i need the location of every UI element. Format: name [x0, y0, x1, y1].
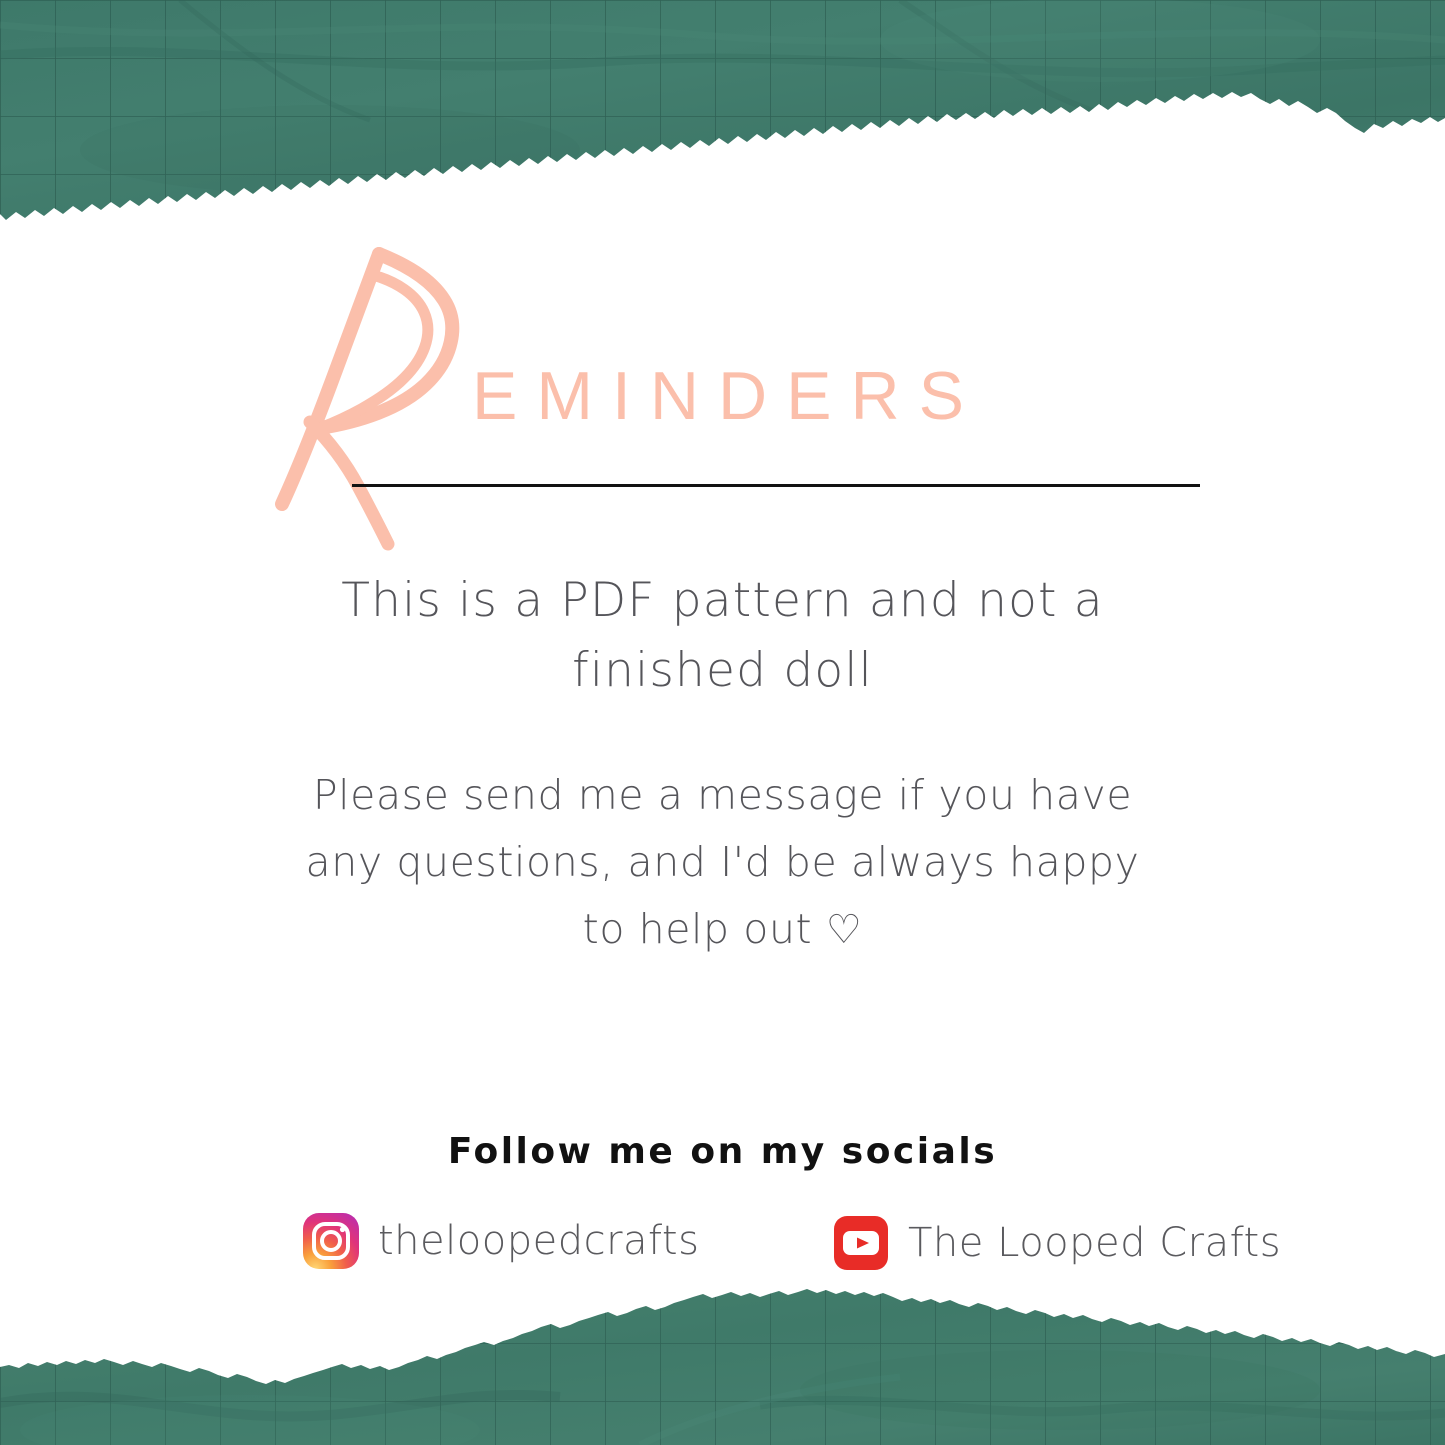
paragraph-line: finished doll	[0, 636, 1445, 706]
instagram-icon	[302, 1212, 360, 1270]
reminders-page: EMINDERS This is a PDF pattern and not a…	[0, 0, 1445, 1445]
paragraph-line-text: to help out	[583, 905, 813, 953]
paragraph-pdf-notice: This is a PDF pattern and not a finished…	[0, 566, 1445, 706]
youtube-icon	[832, 1214, 890, 1272]
paragraph-contact-notice: Please send me a message if you have any…	[0, 762, 1445, 964]
drop-cap-r-icon	[248, 242, 498, 552]
social-link-youtube[interactable]: The Looped Crafts	[832, 1214, 1281, 1272]
top-torn-paper-band	[0, 0, 1445, 230]
social-link-instagram[interactable]: theloopedcrafts	[302, 1212, 699, 1270]
youtube-handle: The Looped Crafts	[908, 1220, 1281, 1266]
bottom-torn-paper-band	[0, 1285, 1445, 1445]
instagram-handle: theloopedcrafts	[378, 1218, 699, 1264]
socials-heading: Follow me on my socials	[0, 1131, 1445, 1172]
paragraph-line: Please send me a message if you have	[0, 762, 1445, 829]
paragraph-line: any questions, and I'd be always happy	[0, 829, 1445, 896]
title-block: EMINDERS	[0, 232, 1445, 532]
paragraph-line-with-heart: to help out ♡	[0, 896, 1445, 964]
heart-icon: ♡	[826, 907, 862, 953]
paragraph-line: This is a PDF pattern and not a	[0, 566, 1445, 636]
page-title: EMINDERS	[472, 362, 983, 430]
socials-row: theloopedcrafts The Looped Crafts	[0, 1212, 1445, 1292]
title-divider-rule	[352, 484, 1200, 487]
